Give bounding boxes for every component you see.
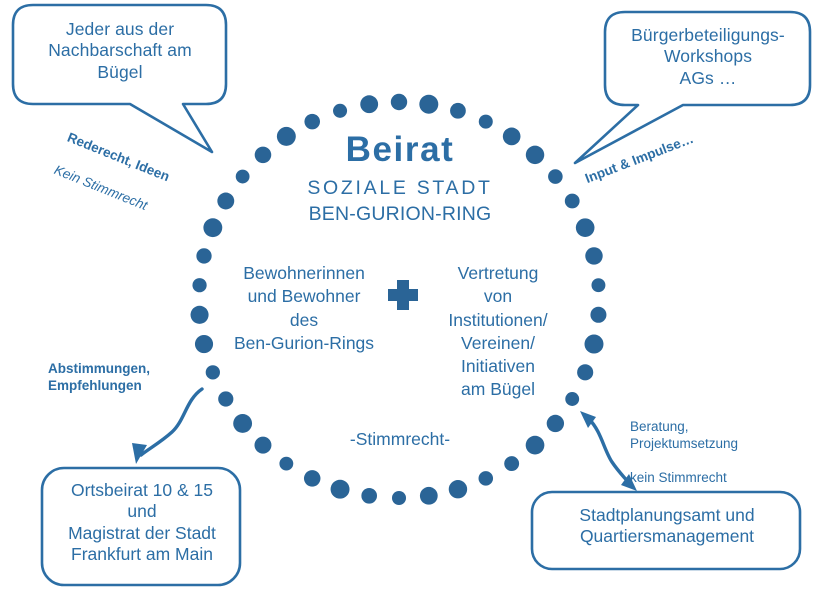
ring-dot — [565, 194, 580, 209]
ring-dot — [331, 480, 350, 499]
arrow-label-beratung-regular: kein Stimmrecht — [630, 470, 806, 487]
ring-dot — [392, 491, 406, 505]
ring-dot — [504, 456, 519, 471]
ring-subtitle-ben-gurion-ring: BEN-GURION-RING — [268, 203, 532, 227]
ring-dot — [585, 247, 602, 264]
ring-dot — [333, 104, 347, 118]
ring-dot — [576, 218, 595, 237]
box-bottom-right-label: Stadtplanungsamt und Quartiersmanagement — [538, 505, 796, 548]
ring-dot — [479, 471, 494, 486]
box-bottom-left-label: Ortsbeirat 10 & 15 und Magistrat der Sta… — [46, 480, 238, 565]
ring-dot — [577, 364, 593, 380]
ring-dot — [304, 114, 320, 130]
diagram-canvas: Jeder aus der Nachbarschaft am Bügel Red… — [0, 0, 820, 600]
ring-dot — [526, 436, 545, 455]
ring-dot — [233, 414, 252, 433]
arrow-to-stadtplanungsamt — [580, 411, 637, 491]
bubble-top-right-label: Bürgerbeteiligungs- Workshops AGs … — [610, 25, 806, 89]
curved-arrow-down-icon — [141, 389, 202, 455]
ring-dot — [304, 470, 321, 487]
arrow-label-beratung-bold: Beratung, Projektumsetzung — [630, 419, 806, 453]
ring-dot — [236, 170, 250, 184]
ring-dot — [279, 457, 293, 471]
ring-vote-note: -Stimmrecht- — [330, 429, 470, 450]
ring-dot — [217, 193, 234, 210]
ring-dot — [191, 306, 209, 324]
ring-subtitle-soziale-stadt: SOZIALE STADT — [270, 177, 530, 201]
ring-dot — [361, 488, 377, 504]
ring-dot — [450, 103, 466, 119]
ring-dot — [254, 437, 271, 454]
ring-dot — [420, 487, 438, 505]
bubble-top-left-label: Jeder aus der Nachbarschaft am Bügel — [20, 19, 220, 83]
ring-dot — [255, 147, 272, 164]
ring-dot — [590, 307, 606, 323]
ring-dot — [479, 115, 493, 129]
ring-dot — [203, 218, 222, 237]
ring-column-residents: Bewohnerinnen und Bewohner des Ben-Gurio… — [214, 262, 394, 355]
ring-dot — [195, 335, 213, 353]
ring-dot — [547, 415, 564, 432]
ring-dot — [218, 391, 233, 406]
ring-dot — [192, 278, 206, 292]
arrow-label-abstimmungen: Abstimmungen, Empfehlungen — [48, 361, 218, 395]
ring-dot — [391, 94, 407, 110]
ring-dot — [196, 248, 211, 263]
ring-dot — [360, 95, 378, 113]
ring-title: Beirat — [270, 129, 530, 172]
ring-dot — [548, 169, 563, 184]
ring-column-institutions: Vertretung von Institutionen/ Vereinen/ … — [424, 262, 572, 402]
ring-dot — [449, 480, 467, 498]
ring-dot — [591, 278, 605, 292]
ring-dot — [419, 95, 438, 114]
ring-dot — [584, 335, 603, 354]
arrow-label-beratung: Beratung, Projektumsetzung kein Stimmrec… — [630, 402, 806, 503]
curved-double-arrow-icon — [589, 419, 629, 483]
arrow-to-ortsbeirat — [132, 389, 202, 464]
